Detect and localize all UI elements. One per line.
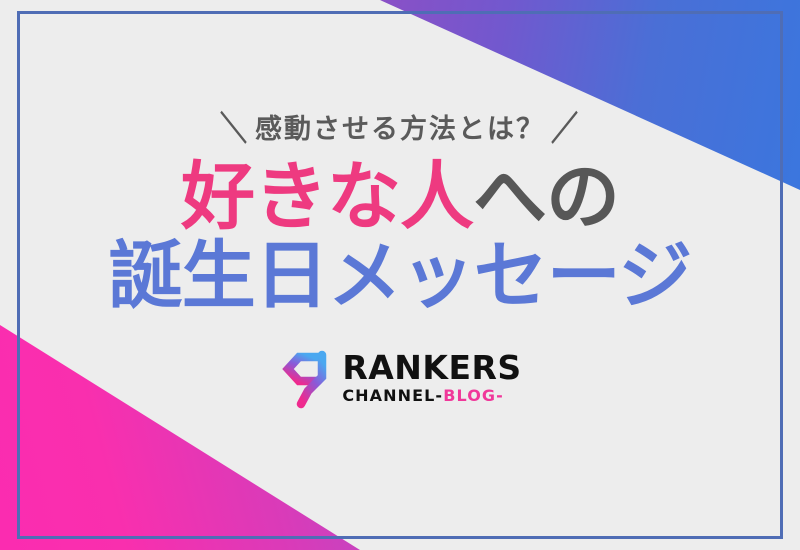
title-segment-gray: への: [473, 154, 619, 240]
title-line-1: 好きな人への: [181, 159, 619, 236]
rankers-gradient-mark-icon: [278, 347, 332, 409]
logo-subline-prefix: CHANNEL-: [342, 388, 443, 404]
site-logo[interactable]: RANKERS CHANNEL-BLOG-: [278, 347, 521, 409]
logo-subtitle: CHANNEL-BLOG-: [342, 388, 504, 404]
eyecatch-canvas: ＼感動させる方法とは？／ 好きな人への 誕生日メッセージ: [0, 0, 800, 550]
title-segment-pink: 好きな人: [181, 154, 473, 240]
logo-wordmark: RANKERS CHANNEL-BLOG-: [342, 351, 521, 404]
left-slash-icon: ＼: [214, 113, 255, 147]
logo-title: RANKERS: [342, 351, 521, 384]
title-segment-blue: 誕生日メッセージ: [109, 233, 692, 319]
content-stack: ＼感動させる方法とは？／ 好きな人への 誕生日メッセージ: [0, 0, 800, 550]
subtitle-line: ＼感動させる方法とは？／: [214, 116, 586, 143]
subtitle-text: 感動させる方法とは？: [255, 114, 545, 145]
right-slash-icon: ／: [545, 113, 586, 147]
title-line-2: 誕生日メッセージ: [109, 238, 692, 315]
logo-subline-accent: BLOG-: [443, 388, 504, 404]
